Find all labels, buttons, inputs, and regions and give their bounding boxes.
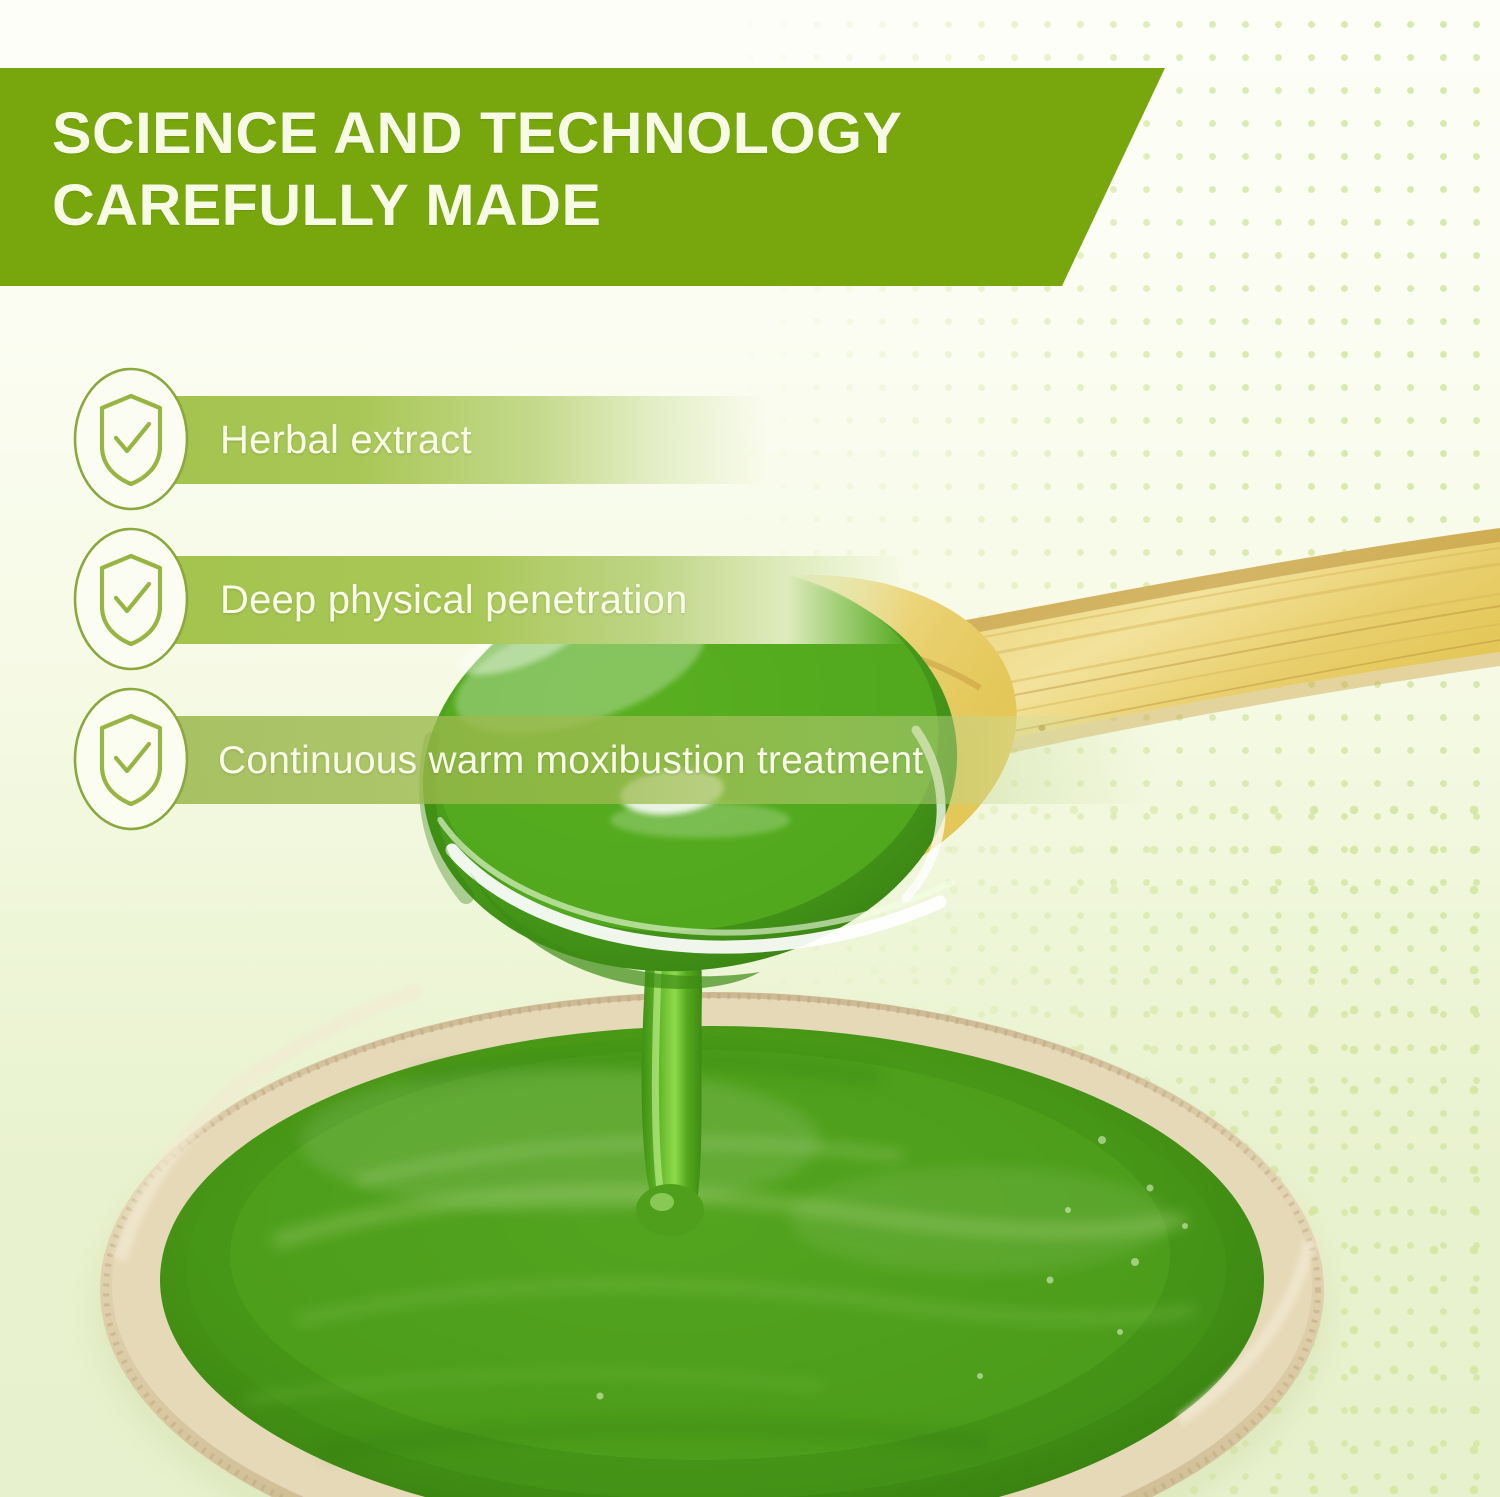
shield-check-icon-glyph [72,366,190,512]
feature-label-1: Herbal extract [148,420,472,460]
shield-check-icon [72,366,190,512]
feature-pill-2: Deep physical penetration [148,556,908,644]
feature-label-3: Continuous warm moxibustion treatment [148,741,923,780]
feature-label-2: Deep physical penetration [148,580,688,620]
shield-check-icon [72,526,190,672]
shield-check-icon [72,686,190,832]
feature-list: Herbal extract Deep physical penetration [0,360,1500,840]
feature-pill-3: Continuous warm moxibustion treatment [148,716,1158,804]
banner-title-line-1: SCIENCE AND TECHNOLOGY [52,98,1133,170]
infographic-canvas: SCIENCE AND TECHNOLOGY CAREFULLY MADE He… [0,0,1500,1497]
feature-item-3: Continuous warm moxibustion treatment [0,680,1500,840]
feature-item-1: Herbal extract [0,360,1500,520]
feature-item-2: Deep physical penetration [0,520,1500,680]
shield-check-icon-glyph [72,686,190,832]
feature-pill-1: Herbal extract [148,396,768,484]
banner-title-line-2: CAREFULLY MADE [52,170,1133,242]
shield-check-icon-glyph [72,526,190,672]
header-banner-text: SCIENCE AND TECHNOLOGY CAREFULLY MADE [52,98,1112,242]
header-banner: SCIENCE AND TECHNOLOGY CAREFULLY MADE [0,68,1165,286]
